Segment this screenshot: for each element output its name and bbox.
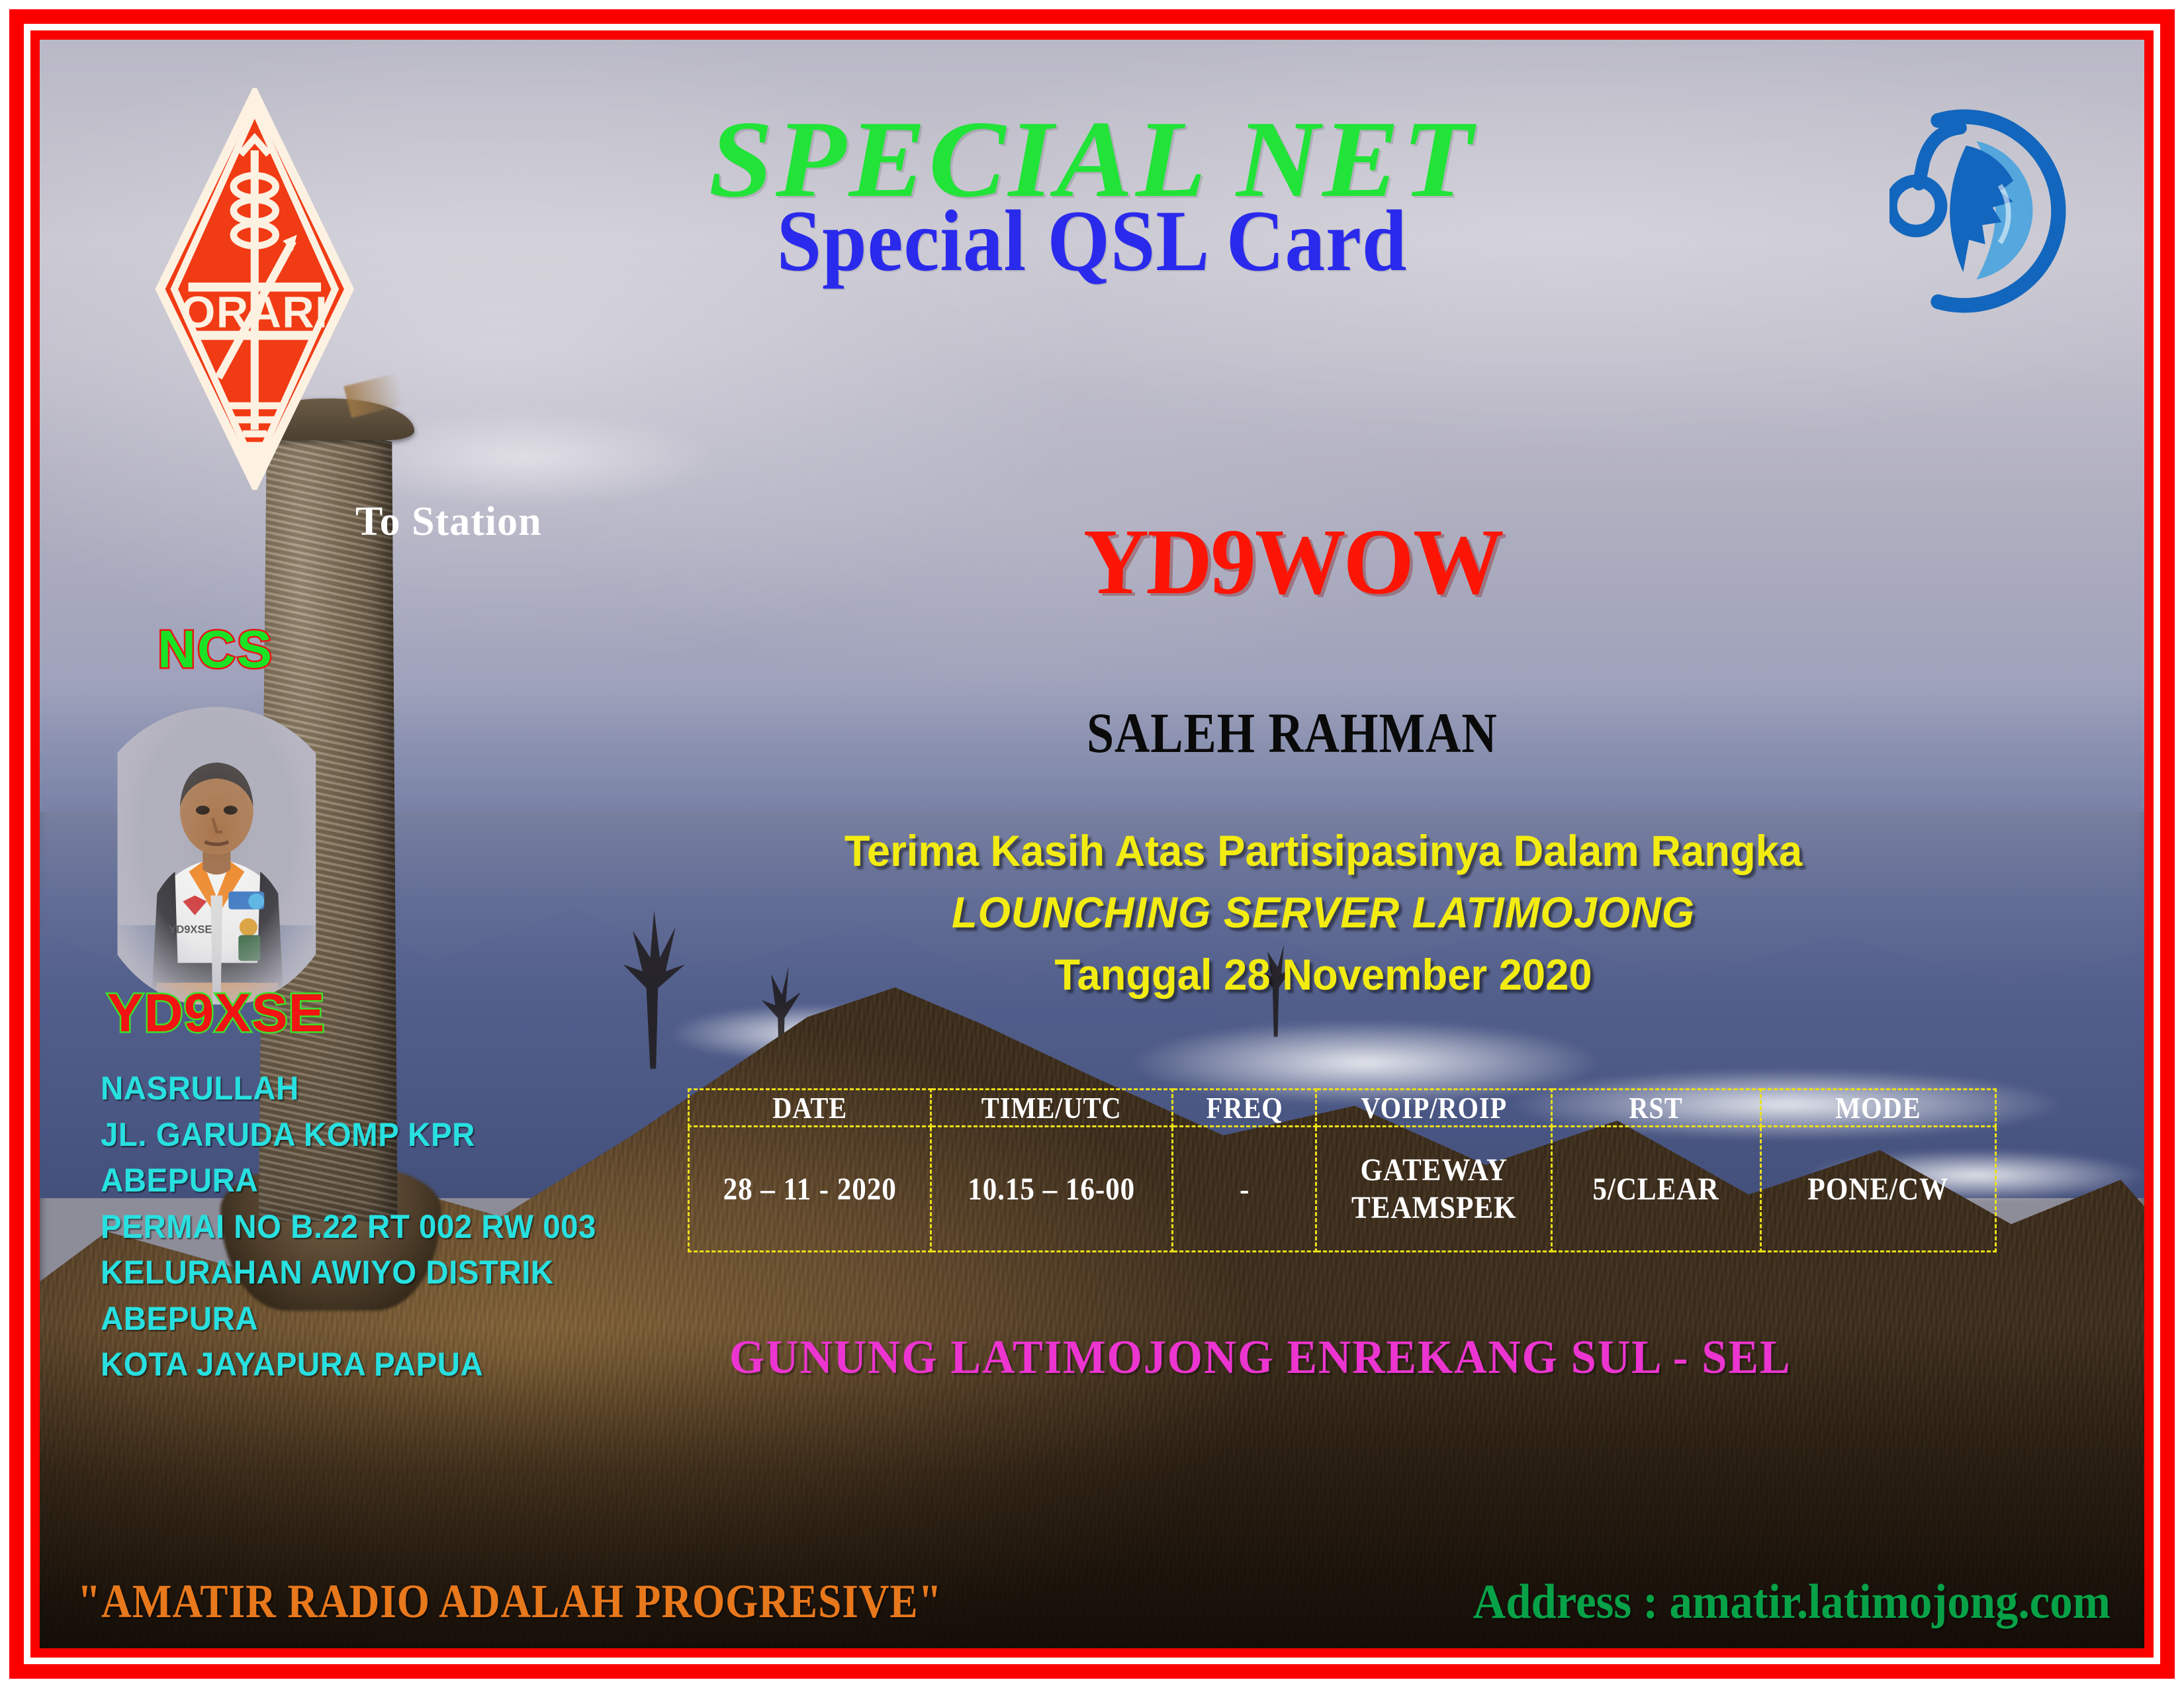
- thank-you-message: Terima Kasih Atas Partisipasinya Dalam R…: [745, 820, 1902, 1006]
- column-header-rst: RST: [1564, 1090, 1748, 1127]
- cell-voip: GATEWAY TEAMSPEK: [1328, 1127, 1540, 1252]
- cell-date: 28 – 11 - 2020: [701, 1127, 919, 1252]
- inner-red-border: ORARI: [30, 30, 2154, 1658]
- address-line: PERMAI NO B.22 RT 002 RW 003: [101, 1204, 596, 1250]
- cell-freq: -: [1180, 1127, 1310, 1252]
- address-line: ABEPURA: [101, 1296, 596, 1342]
- recipient-callsign: YD9WOW: [913, 514, 1671, 608]
- event-location: GUNUNG LATIMOJONG ENREKANG SUL - SEL: [680, 1330, 1840, 1385]
- column-header-freq: FREQ: [1181, 1090, 1308, 1127]
- cell-mode: PONE/CW: [1772, 1127, 1984, 1252]
- background-photograph: ORARI: [40, 40, 2144, 1648]
- cell-voip-line-1: GATEWAY: [1329, 1151, 1539, 1190]
- address-line: KELURAHAN AWIYO DISTRIK: [101, 1250, 596, 1296]
- table-header-row: DATE TIME/UTC FREQ VOIP/ROIP RST MODE: [689, 1090, 1996, 1127]
- ncs-callsign: YD9XSE: [107, 982, 326, 1045]
- qso-details-table: DATE TIME/UTC FREQ VOIP/ROIP RST MODE: [688, 1088, 1997, 1252]
- address-line: ABEPURA: [101, 1158, 596, 1204]
- ncs-operator-photo: YD9XSE: [84, 707, 349, 1005]
- to-station-label: To Station: [355, 498, 542, 545]
- operator-name: SALEH RAHMAN: [957, 704, 1627, 761]
- message-line-2: LOUNCHING SERVER LATIMOJONG: [768, 882, 1879, 944]
- orari-logo-text: ORARI: [181, 288, 328, 337]
- white-border-gap: ORARI: [24, 24, 2160, 1664]
- cell-rst: 5/CLEAR: [1562, 1127, 1750, 1252]
- cell-voip-line-2: TEAMSPEK: [1329, 1189, 1539, 1227]
- website-address: Address : amatir.latimojong.com: [1473, 1574, 2111, 1630]
- column-header-date: DATE: [704, 1090, 917, 1127]
- address-line: JL. GARUDA KOMP KPR: [101, 1112, 596, 1158]
- qsl-card: ORARI: [0, 0, 2184, 1688]
- column-header-voip: VOIP/ROIP: [1330, 1090, 1537, 1127]
- column-header-mode: MODE: [1775, 1090, 1982, 1127]
- address-line: KOTA JAYAPURA PAPUA: [101, 1342, 596, 1388]
- message-line-3: Tanggal 28 November 2020: [768, 944, 1879, 1006]
- slogan-text: "AMATIR RADIO ADALAH PROGRESIVE": [77, 1574, 942, 1629]
- message-line-1: Terima Kasih Atas Partisipasinya Dalam R…: [768, 820, 1879, 882]
- address-line: NASRULLAH: [101, 1066, 596, 1112]
- table-row: 28 – 11 - 2020 10.15 – 16-00 - GATEWAY T…: [689, 1127, 1996, 1252]
- outer-red-border: ORARI: [9, 9, 2175, 1679]
- ncs-label: NCS: [158, 619, 273, 680]
- page-subtitle-qsl-card: Special QSL Card: [124, 197, 2060, 285]
- cell-time: 10.15 – 16-00: [943, 1127, 1161, 1252]
- column-header-time: TIME/UTC: [945, 1090, 1158, 1127]
- mailing-address: NASRULLAH JL. GARUDA KOMP KPR ABEPURA PE…: [101, 1066, 596, 1388]
